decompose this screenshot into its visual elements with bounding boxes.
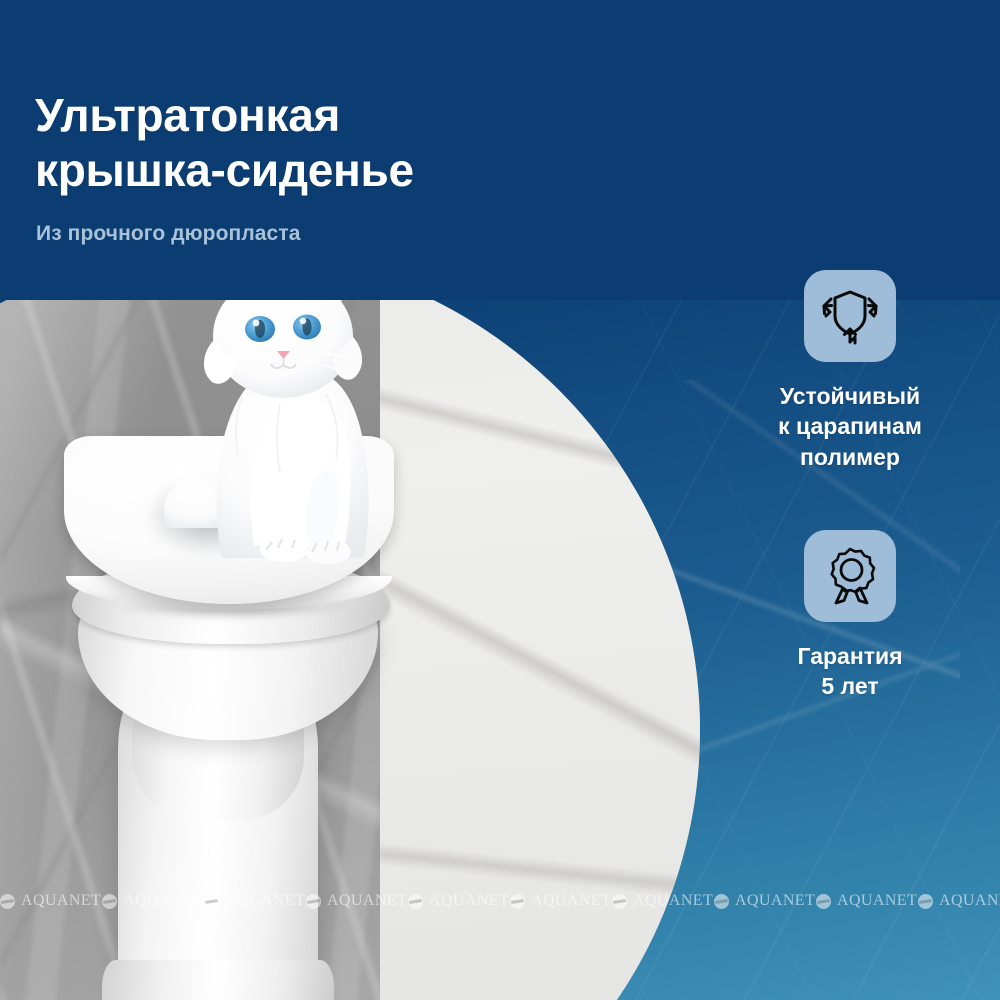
- watermark-text: AQUANET: [633, 892, 713, 910]
- watermark-text: AQUANET: [531, 892, 611, 910]
- watermark-text: AQUANET: [225, 892, 305, 910]
- cat-eye-highlight-right: [300, 318, 306, 324]
- scratch-resistant-shield-icon: [804, 270, 896, 362]
- aquanet-logo-icon: [918, 894, 933, 909]
- subtitle: Из прочного дюропласта: [36, 222, 301, 246]
- watermark: AQUANET: [102, 892, 204, 910]
- watermark-text: AQUANET: [327, 892, 407, 910]
- feature-label: Устойчивый к царапинам полимер: [778, 381, 922, 472]
- watermark-strip: AQUANET AQUANET AQUANET AQUANET AQUANET …: [0, 888, 1000, 914]
- aquanet-logo-icon: [0, 894, 15, 909]
- product-banner: Ультратонкая крышка-сиденье Из прочного …: [0, 0, 1000, 1000]
- watermark-text: AQUANET: [429, 892, 509, 910]
- watermark: AQUANET: [408, 892, 510, 910]
- aquanet-logo-icon: [306, 894, 321, 909]
- watermark: AQUANET: [816, 892, 918, 910]
- page-title: Ультратонкая крышка-сиденье: [35, 88, 414, 197]
- aquanet-logo-icon: [204, 894, 219, 909]
- feature-warranty: Гарантия 5 лет: [720, 530, 980, 702]
- aquanet-logo-icon: [510, 894, 525, 909]
- watermark: AQUANET: [918, 892, 1000, 910]
- watermark: AQUANET: [306, 892, 408, 910]
- aquanet-logo-icon: [408, 894, 423, 909]
- watermark-text: AQUANET: [837, 892, 917, 910]
- watermark-text: AQUANET: [21, 892, 101, 910]
- watermark: AQUANET: [0, 892, 102, 910]
- watermark: AQUANET: [510, 892, 612, 910]
- aquanet-logo-icon: [102, 894, 117, 909]
- watermark-text: AQUANET: [939, 892, 1000, 910]
- headline-line-1: Ультратонкая: [35, 89, 340, 141]
- feature-list: Устойчивый к царапинам полимер Гарантия …: [700, 270, 1000, 702]
- feature-label: Гарантия 5 лет: [797, 641, 902, 702]
- headline-line-2: крышка-сиденье: [35, 143, 414, 198]
- aquanet-logo-icon: [714, 894, 729, 909]
- watermark: AQUANET: [204, 892, 306, 910]
- aquanet-logo-icon: [612, 894, 627, 909]
- feature-scratch-resistant: Устойчивый к царапинам полимер: [720, 270, 980, 472]
- watermark-text: AQUANET: [735, 892, 815, 910]
- cat-eye-highlight-left: [253, 320, 260, 327]
- watermark-text: AQUANET: [123, 892, 203, 910]
- aquanet-logo-icon: [816, 894, 831, 909]
- award-rosette-icon: [804, 530, 896, 622]
- watermark: AQUANET: [612, 892, 714, 910]
- watermark: AQUANET: [714, 892, 816, 910]
